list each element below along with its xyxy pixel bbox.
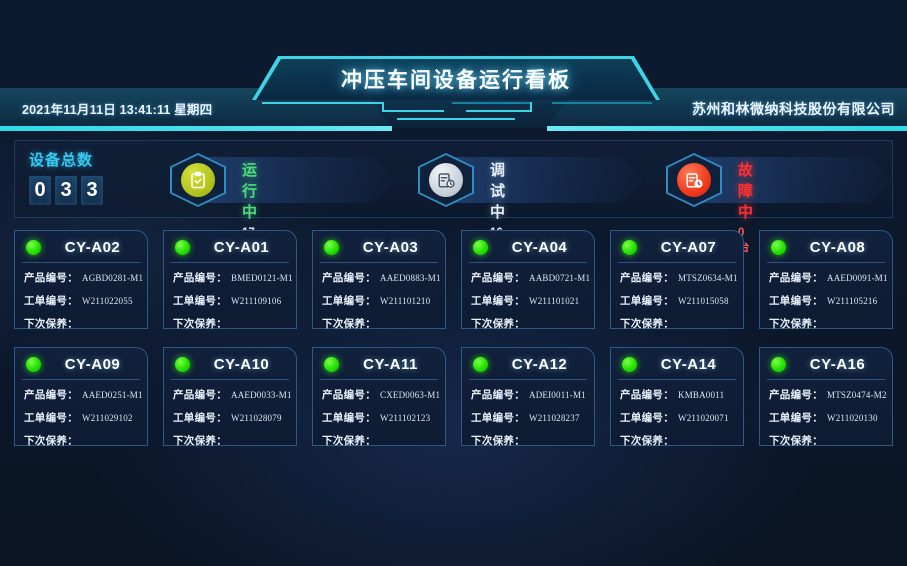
stat-fault-label: 故障中 — [738, 159, 754, 222]
device-card[interactable]: CY-A16产品编号：MTSZ0474-M2工单编号：W211020130下次保… — [759, 347, 893, 446]
product-no-row: 产品编号：CXED0063-M1 — [322, 387, 438, 402]
title-banner: 冲压车间设备运行看板 — [252, 56, 660, 128]
product-no-row: 产品编号：MTSZ0474-M2 — [769, 387, 885, 402]
stat-fault-arrow — [694, 157, 894, 203]
work-order-value: W211102123 — [380, 413, 430, 423]
device-card-fields: 产品编号：AAED0251-M1工单编号：W211029102下次保养： — [22, 380, 140, 448]
work-order-label: 工单编号： — [620, 410, 674, 425]
device-card-header: CY-A14 — [618, 354, 736, 380]
next-maintenance-label: 下次保养： — [24, 433, 78, 448]
product-no-label: 产品编号： — [322, 387, 376, 402]
next-maintenance-label: 下次保养： — [322, 316, 376, 331]
status-led-icon — [473, 240, 488, 255]
device-name: CY-A07 — [647, 239, 736, 256]
product-no-value: KMBA0011 — [678, 390, 724, 400]
status-led-icon — [771, 357, 786, 372]
next-maintenance-row: 下次保养： — [322, 316, 438, 331]
product-no-value: MTSZ0474-M2 — [827, 390, 887, 400]
work-order-row: 工单编号：W211028237 — [471, 410, 587, 425]
device-card[interactable]: CY-A11产品编号：CXED0063-M1工单编号：W211102123下次保… — [312, 347, 446, 446]
product-no-label: 产品编号： — [322, 270, 376, 285]
work-order-value: W211029102 — [82, 413, 133, 423]
device-card-header: CY-A03 — [320, 237, 438, 263]
device-name: CY-A02 — [51, 239, 140, 256]
status-led-icon — [26, 240, 41, 255]
device-name: CY-A14 — [647, 356, 736, 373]
device-card-header: CY-A11 — [320, 354, 438, 380]
status-led-icon — [771, 240, 786, 255]
product-no-label: 产品编号： — [471, 270, 525, 285]
device-card[interactable]: CY-A12产品编号：ADEI0011-M1工单编号：W211028237下次保… — [461, 347, 595, 446]
work-order-value: W211105216 — [827, 296, 877, 306]
next-maintenance-row: 下次保养： — [322, 433, 438, 448]
device-name: CY-A01 — [200, 239, 289, 256]
work-order-label: 工单编号： — [769, 410, 823, 425]
product-no-value: AAED0883-M1 — [380, 273, 441, 283]
next-maintenance-row: 下次保养： — [471, 433, 587, 448]
product-no-row: 产品编号：AAED0033-M1 — [173, 387, 289, 402]
work-order-row: 工单编号：W211109106 — [173, 293, 289, 308]
work-order-label: 工单编号： — [769, 293, 823, 308]
clipboard-alert-icon — [677, 163, 711, 197]
digit: 3 — [55, 176, 77, 205]
product-no-row: 产品编号：AAED0251-M1 — [24, 387, 140, 402]
next-maintenance-row: 下次保养： — [769, 316, 885, 331]
next-maintenance-label: 下次保养： — [322, 433, 376, 448]
page-title: 冲压车间设备运行看板 — [252, 64, 660, 94]
device-card-header: CY-A01 — [171, 237, 289, 263]
status-led-icon — [175, 240, 190, 255]
device-card[interactable]: CY-A03产品编号：AAED0883-M1工单编号：W211101210下次保… — [312, 230, 446, 329]
product-no-row: 产品编号：AAED0091-M1 — [769, 270, 885, 285]
product-no-value: AAED0033-M1 — [231, 390, 292, 400]
product-no-label: 产品编号： — [620, 387, 674, 402]
product-no-row: 产品编号：BMED0121-M1 — [173, 270, 289, 285]
device-name: CY-A16 — [796, 356, 885, 373]
device-card-fields: 产品编号：AABD0721-M1工单编号：W211101021下次保养： — [469, 263, 587, 331]
device-card-header: CY-A09 — [22, 354, 140, 380]
work-order-row: 工单编号：W211022055 — [24, 293, 140, 308]
work-order-label: 工单编号： — [24, 410, 78, 425]
work-order-row: 工单编号：W211105216 — [769, 293, 885, 308]
product-no-label: 产品编号： — [620, 270, 674, 285]
total-devices-block: 设备总数 0 3 3 — [29, 149, 103, 205]
datetime-display: 2021年11月11日 13:41:11 星期四 — [22, 99, 212, 118]
device-name: CY-A10 — [200, 356, 289, 373]
stat-debugging-hex — [418, 153, 474, 207]
device-card-header: CY-A12 — [469, 354, 587, 380]
next-maintenance-label: 下次保养： — [173, 433, 227, 448]
stat-running-hex — [170, 153, 226, 207]
status-led-icon — [324, 240, 339, 255]
work-order-value: W211028237 — [529, 413, 580, 423]
next-maintenance-label: 下次保养： — [471, 433, 525, 448]
product-no-row: 产品编号：AABD0721-M1 — [471, 270, 587, 285]
work-order-row: 工单编号：W211028079 — [173, 410, 289, 425]
device-card-fields: 产品编号：AAED0091-M1工单编号：W211105216下次保养： — [767, 263, 885, 331]
work-order-value: W211022055 — [82, 296, 133, 306]
work-order-row: 工单编号：W211020130 — [769, 410, 885, 425]
device-name: CY-A03 — [349, 239, 438, 256]
work-order-value: W211101210 — [380, 296, 430, 306]
product-no-row: 产品编号：MTSZ0634-M1 — [620, 270, 736, 285]
device-card[interactable]: CY-A09产品编号：AAED0251-M1工单编号：W211029102下次保… — [14, 347, 148, 446]
work-order-label: 工单编号： — [322, 293, 376, 308]
page-header: 2021年11月11日 13:41:11 星期四 苏州和林微纳科技股份有限公司 … — [0, 0, 907, 134]
status-led-icon — [622, 240, 637, 255]
stat-running-arrow — [198, 157, 398, 203]
next-maintenance-row: 下次保养： — [769, 433, 885, 448]
work-order-label: 工单编号： — [24, 293, 78, 308]
product-no-value: AGBD0281-M1 — [82, 273, 143, 283]
work-order-label: 工单编号： — [471, 293, 525, 308]
device-card[interactable]: CY-A10产品编号：AAED0033-M1工单编号：W211028079下次保… — [163, 347, 297, 446]
product-no-label: 产品编号： — [24, 387, 78, 402]
work-order-row: 工单编号：W211015058 — [620, 293, 736, 308]
next-maintenance-label: 下次保养： — [769, 433, 823, 448]
product-no-label: 产品编号： — [173, 387, 227, 402]
device-name: CY-A08 — [796, 239, 885, 256]
digit: 0 — [29, 176, 51, 205]
next-maintenance-row: 下次保养： — [24, 433, 140, 448]
device-card-header: CY-A04 — [469, 237, 587, 263]
device-card[interactable]: CY-A07产品编号：MTSZ0634-M1工单编号：W211015058下次保… — [610, 230, 744, 329]
digit: 3 — [81, 176, 103, 205]
work-order-value: W211020130 — [827, 413, 878, 423]
work-order-value: W211020071 — [678, 413, 729, 423]
status-led-icon — [175, 357, 190, 372]
device-card-fields: 产品编号：BMED0121-M1工单编号：W211109106下次保养： — [171, 263, 289, 331]
product-no-label: 产品编号： — [769, 387, 823, 402]
device-card-fields: 产品编号：CXED0063-M1工单编号：W211102123下次保养： — [320, 380, 438, 448]
next-maintenance-row: 下次保养： — [620, 433, 736, 448]
device-card[interactable]: CY-A01产品编号：BMED0121-M1工单编号：W211109106下次保… — [163, 230, 297, 329]
status-led-icon — [622, 357, 637, 372]
device-card-grid: CY-A02产品编号：AGBD0281-M1工单编号：W211022055下次保… — [14, 230, 893, 446]
dashboard-root: 2021年11月11日 13:41:11 星期四 苏州和林微纳科技股份有限公司 … — [0, 0, 907, 566]
stat-debugging-arrow — [446, 157, 646, 203]
product-no-row: 产品编号：AGBD0281-M1 — [24, 270, 140, 285]
device-card-fields: 产品编号：AGBD0281-M1工单编号：W211022055下次保养： — [22, 263, 140, 331]
work-order-value: W211101021 — [529, 296, 579, 306]
status-led-icon — [26, 357, 41, 372]
next-maintenance-label: 下次保养： — [471, 316, 525, 331]
next-maintenance-row: 下次保养： — [471, 316, 587, 331]
device-card[interactable]: CY-A08产品编号：AAED0091-M1工单编号：W211105216下次保… — [759, 230, 893, 329]
product-no-value: MTSZ0634-M1 — [678, 273, 738, 283]
work-order-row: 工单编号：W211029102 — [24, 410, 140, 425]
next-maintenance-row: 下次保养： — [24, 316, 140, 331]
stat-debugging-label: 调试中 — [490, 159, 506, 222]
total-devices-label: 设备总数 — [29, 149, 103, 170]
device-card-fields: 产品编号：ADEI0011-M1工单编号：W211028237下次保养： — [469, 380, 587, 448]
work-order-label: 工单编号： — [620, 293, 674, 308]
next-maintenance-label: 下次保养： — [620, 316, 674, 331]
work-order-row: 工单编号：W211020071 — [620, 410, 736, 425]
product-no-label: 产品编号： — [24, 270, 78, 285]
next-maintenance-label: 下次保养： — [769, 316, 823, 331]
product-no-value: AABD0721-M1 — [529, 273, 590, 283]
device-card-header: CY-A08 — [767, 237, 885, 263]
device-card[interactable]: CY-A14产品编号：KMBA0011工单编号：W211020071下次保养： — [610, 347, 744, 446]
device-name: CY-A11 — [349, 356, 438, 373]
work-order-value: W211028079 — [231, 413, 282, 423]
device-card-header: CY-A10 — [171, 354, 289, 380]
stats-panel: 设备总数 0 3 3 运行中 17 台 — [14, 140, 893, 218]
device-card-header: CY-A07 — [618, 237, 736, 263]
next-maintenance-label: 下次保养： — [620, 433, 674, 448]
stat-running-label: 运行中 — [242, 159, 258, 222]
work-order-label: 工单编号： — [322, 410, 376, 425]
device-card-fields: 产品编号：KMBA0011工单编号：W211020071下次保养： — [618, 380, 736, 448]
company-name: 苏州和林微纳科技股份有限公司 — [692, 99, 895, 119]
work-order-row: 工单编号：W211102123 — [322, 410, 438, 425]
device-name: CY-A04 — [498, 239, 587, 256]
stat-fault-hex — [666, 153, 722, 207]
next-maintenance-row: 下次保养： — [620, 316, 736, 331]
status-led-icon — [473, 357, 488, 372]
device-card-header: CY-A16 — [767, 354, 885, 380]
device-card[interactable]: CY-A02产品编号：AGBD0281-M1工单编号：W211022055下次保… — [14, 230, 148, 329]
product-no-label: 产品编号： — [769, 270, 823, 285]
product-no-row: 产品编号：AAED0883-M1 — [322, 270, 438, 285]
next-maintenance-label: 下次保养： — [24, 316, 78, 331]
next-maintenance-row: 下次保养： — [173, 316, 289, 331]
work-order-value: W211109106 — [231, 296, 281, 306]
product-no-row: 产品编号：KMBA0011 — [620, 387, 736, 402]
device-card[interactable]: CY-A04产品编号：AABD0721-M1工单编号：W211101021下次保… — [461, 230, 595, 329]
next-maintenance-label: 下次保养： — [173, 316, 227, 331]
product-no-value: ADEI0011-M1 — [529, 390, 586, 400]
device-card-fields: 产品编号：MTSZ0474-M2工单编号：W211020130下次保养： — [767, 380, 885, 448]
device-card-header: CY-A02 — [22, 237, 140, 263]
device-card-fields: 产品编号：AAED0883-M1工单编号：W211101210下次保养： — [320, 263, 438, 331]
device-card-fields: 产品编号：MTSZ0634-M1工单编号：W211015058下次保养： — [618, 263, 736, 331]
work-order-value: W211015058 — [678, 296, 729, 306]
product-no-value: AAED0091-M1 — [827, 273, 888, 283]
work-order-row: 工单编号：W211101210 — [322, 293, 438, 308]
total-devices-digits: 0 3 3 — [29, 176, 103, 205]
work-order-label: 工单编号： — [173, 410, 227, 425]
product-no-value: BMED0121-M1 — [231, 273, 293, 283]
work-order-row: 工单编号：W211101021 — [471, 293, 587, 308]
product-no-label: 产品编号： — [471, 387, 525, 402]
title-decoration — [252, 100, 660, 128]
status-led-icon — [324, 357, 339, 372]
product-no-label: 产品编号： — [173, 270, 227, 285]
device-name: CY-A09 — [51, 356, 140, 373]
clipboard-check-icon — [181, 163, 215, 197]
device-card-fields: 产品编号：AAED0033-M1工单编号：W211028079下次保养： — [171, 380, 289, 448]
work-order-label: 工单编号： — [173, 293, 227, 308]
work-order-label: 工单编号： — [471, 410, 525, 425]
device-name: CY-A12 — [498, 356, 587, 373]
clipboard-clock-icon — [429, 163, 463, 197]
product-no-value: CXED0063-M1 — [380, 390, 440, 400]
product-no-row: 产品编号：ADEI0011-M1 — [471, 387, 587, 402]
next-maintenance-row: 下次保养： — [173, 433, 289, 448]
product-no-value: AAED0251-M1 — [82, 390, 143, 400]
